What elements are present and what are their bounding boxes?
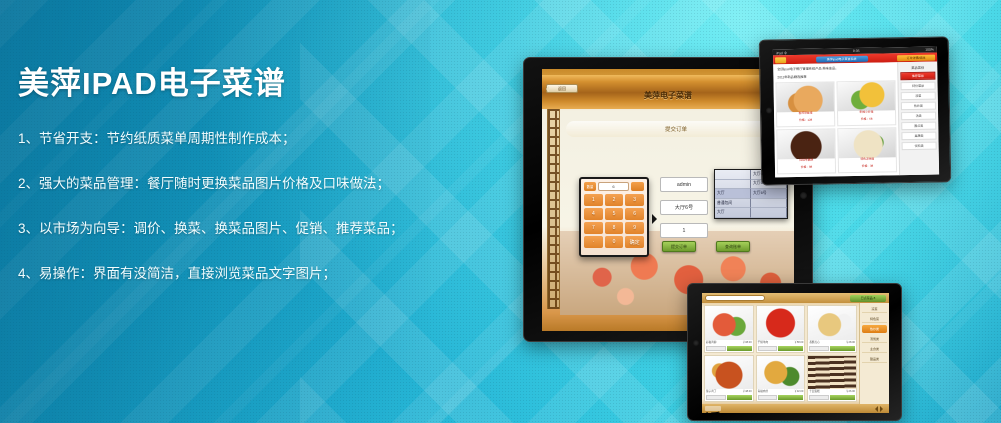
dish-actions (757, 395, 805, 401)
dish-card[interactable]: 青椒肉丝 ￥32.00 (756, 355, 806, 403)
status-carrier: iPad 令 (776, 50, 787, 55)
dish-grid: 彩椒鸡柳 ￥38.00 干锅羊肉 (702, 303, 859, 404)
sidebar-item-cold[interactable]: 凉菜 (862, 305, 887, 313)
camera-icon (800, 192, 807, 199)
pagination-controls (872, 406, 886, 412)
table-row[interactable] (751, 199, 787, 209)
key-0[interactable]: 0 (605, 236, 624, 248)
sidebar-item-stirfry[interactable]: 热炒类 (862, 325, 887, 333)
minus-button[interactable] (758, 346, 778, 351)
backspace-icon[interactable] (631, 182, 644, 191)
minus-button[interactable] (809, 395, 829, 400)
sidebar-item-dessert[interactable]: 甜品类 (862, 355, 887, 363)
key-8[interactable]: 8 (605, 222, 624, 234)
next-page-icon[interactable] (880, 406, 886, 412)
minus-button[interactable] (809, 346, 829, 351)
add-dish-button[interactable] (778, 395, 803, 400)
sidebar-item-stirfry[interactable]: 热炒类 (901, 102, 936, 111)
sidebar-item-drink[interactable]: 饮料类 (902, 142, 937, 151)
dish-grid: 香煎带鱼排 价格：128 彩椒小炒皇 价格：68 红烧牛腩煲 价格：88 (775, 80, 897, 174)
dish-photo (837, 81, 894, 111)
promo-banner: 美萍IPAD电子菜谱 1、节省开支：节约纸质菜单周期性制作成本； 2、强大的菜品… (0, 0, 1001, 423)
table-row[interactable]: 大厅6号 (751, 189, 787, 199)
camera-icon (693, 340, 699, 346)
tablet-top-right-device: iPad 令 9:35 100% 美萍ipad电子菜谱系统 订单详情/结账 全国… (759, 36, 952, 185)
dish-card[interactable]: 特色凉拌面 价格：38 (837, 127, 897, 173)
dish-photo (705, 356, 753, 390)
app-title: 美萍电子菜谱 (542, 90, 794, 101)
minus-button[interactable] (706, 346, 726, 351)
page-title: 美萍IPAD电子菜谱 (18, 66, 448, 103)
key-5[interactable]: 5 (605, 208, 624, 220)
add-dish-button[interactable] (727, 346, 752, 351)
sidebar-item-soup[interactable]: 汤煲类 (862, 335, 887, 343)
dish-photo (776, 82, 833, 112)
tablet-top-right-screen: iPad 令 9:35 100% 美萍ipad电子菜谱系统 订单详情/结账 全国… (773, 47, 939, 178)
dish-card[interactable]: 红烧牛腩煲 价格：88 (776, 128, 836, 174)
sidebar-item-noodle[interactable]: 面点类 (901, 122, 936, 131)
camera-icon (766, 107, 772, 113)
dish-actions (705, 346, 753, 352)
keypad-label: 数量 (584, 182, 596, 191)
table-field[interactable]: 大厅6号 (660, 200, 708, 215)
order-detail-button[interactable]: 订单详情/结账 (897, 54, 935, 61)
dish-grid-panel: 全国ipad电子餐厅管理系统产品 美味佳品。 2011年新品精选推荐 香煎带鱼排… (773, 62, 899, 177)
feature-bullet-4: 4、易操作：界面有没简洁，直接浏览菜品文字图片； (18, 264, 448, 284)
app-toolbar: 已点菜品 8 (702, 293, 889, 303)
sidebar-item-staple[interactable]: 主食类 (862, 345, 887, 353)
feature-bullet-1: 1、节省开支：节约纸质菜单周期性制作成本； (18, 129, 448, 149)
subheader-label: 提交订单 (566, 121, 786, 137)
table-row[interactable] (715, 170, 751, 180)
add-dish-button[interactable] (727, 395, 752, 400)
login-fields: admin 大厅6号 1 (660, 177, 708, 246)
cart-badge[interactable]: 已点菜品 8 (850, 295, 886, 302)
key-confirm[interactable]: 确定 (625, 236, 644, 248)
back-button[interactable]: 返回 (705, 406, 721, 411)
dish-price: 价格：38 (839, 164, 896, 172)
key-9[interactable]: 9 (625, 222, 644, 234)
add-dish-button[interactable] (830, 346, 855, 351)
status-battery: 100% (925, 48, 934, 52)
dish-card[interactable]: 辣子鸡丁 ￥48.00 (704, 355, 754, 403)
dish-price: 价格：128 (777, 118, 834, 126)
key-dot[interactable]: · (584, 236, 603, 248)
keypad-display: 数量 6 (584, 182, 644, 191)
query-bill-button[interactable]: 查询账单 (716, 241, 750, 252)
dish-photo (757, 306, 805, 340)
category-sidebar: 凉菜 特色菜 热炒类 汤煲类 主食类 甜品类 (859, 303, 889, 404)
pointer-arrow-icon (652, 214, 662, 224)
app-footer: 返回 (702, 404, 889, 413)
action-buttons: 提交订单 查询账单 (662, 241, 750, 252)
tablet-bottom-right-screen: 已点菜品 8 彩椒鸡柳 ￥38.00 (702, 293, 889, 413)
toolbar-title: 美萍ipad电子菜谱系统 (816, 55, 868, 62)
dish-card[interactable]: 干锅羊肉 ￥58.00 (756, 305, 806, 353)
sidebar-item-specialty[interactable]: 特色菜 (862, 315, 887, 323)
sidebar-item-cold[interactable]: 凉菜 (901, 92, 936, 101)
marketing-copy: 美萍IPAD电子菜谱 1、节省开支：节约纸质菜单周期性制作成本； 2、强大的菜品… (18, 66, 448, 310)
dish-actions (808, 395, 856, 401)
key-4[interactable]: 4 (584, 208, 603, 220)
dish-card[interactable]: 彩椒小炒皇 价格：68 (836, 80, 896, 126)
dish-photo (705, 306, 753, 340)
dish-photo (838, 128, 895, 158)
key-2[interactable]: 2 (605, 194, 624, 206)
key-6[interactable]: 6 (625, 208, 644, 220)
status-time: 9:35 (853, 49, 860, 53)
prev-page-icon[interactable] (872, 406, 878, 412)
sidebar-item-recommended[interactable]: 推荐菜品 (900, 72, 935, 81)
app-body: 彩椒鸡柳 ￥38.00 干锅羊肉 (702, 303, 889, 404)
dish-browse-app: 已点菜品 8 彩椒鸡柳 ￥38.00 (702, 293, 889, 413)
dish-actions (757, 346, 805, 352)
dish-card[interactable]: 香煎带鱼排 价格：128 (775, 81, 835, 127)
keypad-input[interactable]: 6 (598, 182, 629, 191)
category-sidebar: 菜品类别 推荐菜品 特价菜品 凉菜 热炒类 汤类 面点类 果蔬类 饮料类 (897, 62, 939, 178)
key-3[interactable]: 3 (625, 194, 644, 206)
numeric-keypad[interactable]: 数量 6 1 2 3 4 5 6 7 8 9 · (579, 177, 649, 257)
feature-bullet-2: 2、强大的菜品管理：餐厅随时更换菜品图片价格及口味做法； (18, 174, 448, 194)
add-dish-button[interactable] (830, 395, 855, 400)
key-1[interactable]: 1 (584, 194, 603, 206)
search-input[interactable] (705, 295, 765, 301)
keypad-grid[interactable]: 1 2 3 4 5 6 7 8 9 · 0 确定 (584, 194, 644, 248)
dish-photo (808, 306, 856, 340)
table-row[interactable] (715, 180, 751, 190)
app-header-bar: 返回 美萍电子菜谱 (542, 75, 794, 109)
table-row[interactable] (751, 208, 787, 218)
dish-card[interactable]: 千层蛋糕 ￥26.00 (807, 355, 857, 403)
table-row[interactable]: 大厅 (715, 189, 751, 199)
sidebar-item-soup[interactable]: 汤类 (901, 112, 936, 121)
dish-photo (777, 129, 834, 159)
sidebar-item-vegetable[interactable]: 果蔬类 (901, 132, 936, 141)
dish-actions (808, 346, 856, 352)
sidebar-item-special[interactable]: 特价菜品 (901, 82, 936, 91)
app-body: 全国ipad电子餐厅管理系统产品 美味佳品。 2011年新品精选推荐 香煎带鱼排… (773, 62, 939, 178)
key-7[interactable]: 7 (584, 222, 603, 234)
tablet-bottom-right-device: 已点菜品 8 彩椒鸡柳 ￥38.00 (687, 283, 902, 421)
dish-card[interactable]: 彩椒鸡柳 ￥38.00 (704, 305, 754, 353)
table-row[interactable]: 大厅 (715, 208, 751, 218)
count-field[interactable]: 1 (660, 223, 708, 238)
dish-actions (705, 395, 753, 401)
username-field[interactable]: admin (660, 177, 708, 192)
dish-price: 价格：88 (778, 165, 835, 173)
minus-button[interactable] (758, 395, 778, 400)
table-row[interactable]: 普通包间 (715, 199, 751, 209)
dish-photo (757, 356, 805, 390)
minus-button[interactable] (706, 395, 726, 400)
submit-order-button[interactable]: 提交订单 (662, 241, 696, 252)
dish-photo (808, 356, 856, 390)
feature-bullet-3: 3、以市场为向导：调价、换菜、换菜品图片、促销、推荐菜品； (18, 219, 448, 239)
dish-price: 价格：68 (838, 117, 895, 125)
dish-card[interactable]: 香酥点心 ￥28.00 (807, 305, 857, 353)
back-button[interactable] (775, 57, 786, 63)
add-dish-button[interactable] (778, 346, 803, 351)
decorative-greek-border (547, 109, 560, 309)
